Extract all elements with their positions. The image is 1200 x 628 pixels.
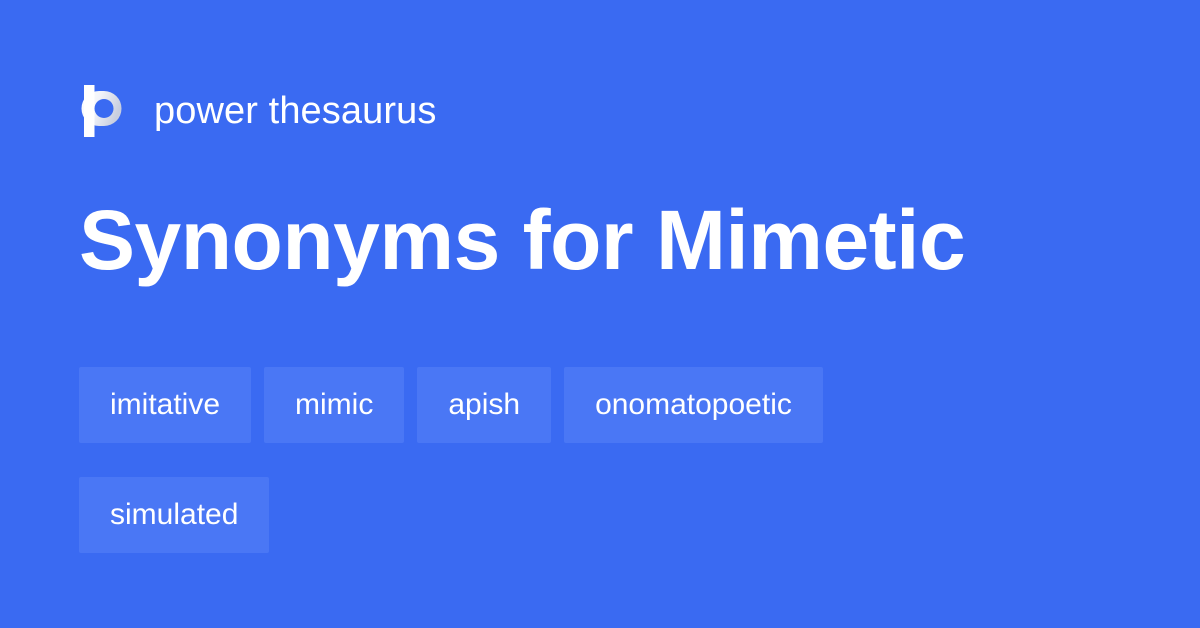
page-title: Synonyms for Mimetic bbox=[79, 198, 965, 282]
synonym-chip[interactable]: simulated bbox=[79, 477, 269, 553]
synonym-chip[interactable]: onomatopoetic bbox=[564, 367, 823, 443]
power-thesaurus-b-logo-icon bbox=[79, 83, 126, 139]
brand-logo[interactable]: power thesaurus bbox=[79, 82, 436, 140]
synonym-chip[interactable]: mimic bbox=[264, 367, 404, 443]
synonym-chip[interactable]: imitative bbox=[79, 367, 251, 443]
synonyms-card: power thesaurus Synonyms for Mimetic imi… bbox=[0, 0, 1200, 628]
synonym-chip[interactable]: apish bbox=[417, 367, 551, 443]
synonym-chip-list: imitative mimic apish onomatopoetic simu… bbox=[79, 367, 1139, 553]
brand-name: power thesaurus bbox=[154, 92, 436, 130]
